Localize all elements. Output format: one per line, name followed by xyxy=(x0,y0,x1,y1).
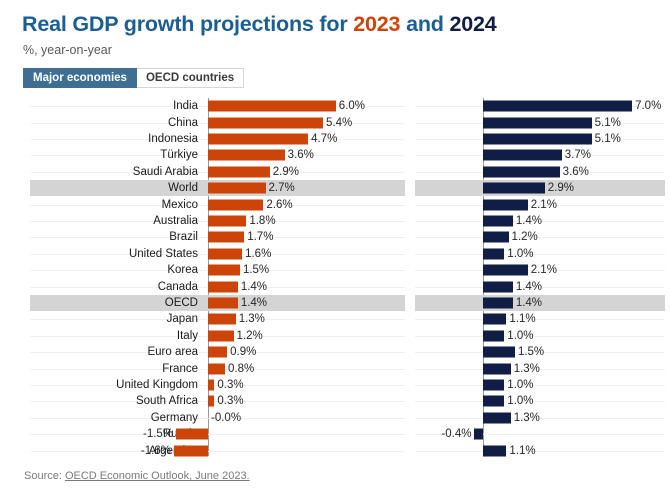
category-label: France xyxy=(30,363,198,375)
category-label: OECD xyxy=(30,297,198,309)
bar-value-label: 7.0% xyxy=(635,100,661,112)
bar-value-label: 1.4% xyxy=(241,281,267,293)
bar[interactable] xyxy=(483,117,592,128)
bar-value-label: 4.7% xyxy=(311,133,337,145)
bar[interactable] xyxy=(208,183,266,194)
bar[interactable] xyxy=(483,445,506,456)
gridline xyxy=(415,418,665,419)
bar-value-label: 5.1% xyxy=(595,133,621,145)
bar-value-label: 3.6% xyxy=(288,149,314,161)
bar-row: India6.0% xyxy=(30,98,405,114)
chart-canvas: India6.0%China5.4%Indonesia4.7%Türkiye3.… xyxy=(0,98,670,456)
bar[interactable] xyxy=(483,281,513,292)
category-label: China xyxy=(30,117,198,129)
bar-row: France0.8% xyxy=(30,360,405,376)
bar-row: 1.1% xyxy=(415,311,665,327)
bar-value-label: 1.3% xyxy=(514,412,540,424)
bar[interactable] xyxy=(483,248,504,259)
bar[interactable] xyxy=(483,101,632,112)
bar[interactable] xyxy=(208,117,323,128)
category-label: Italy xyxy=(30,330,198,342)
bar-row: OECD1.4% xyxy=(30,295,405,311)
bar-row: 2.1% xyxy=(415,262,665,278)
source-link[interactable]: OECD Economic Outlook, June 2023. xyxy=(65,470,250,482)
bar-rows-2024: 7.0%5.1%5.1%3.7%3.6%2.9%2.1%1.4%1.2%1.0%… xyxy=(415,98,665,456)
bar-value-label: 2.9% xyxy=(273,166,299,178)
category-label: United States xyxy=(30,248,198,260)
bar-value-label: 1.3% xyxy=(239,313,265,325)
source-prefix: Source: xyxy=(24,470,65,482)
bar-row: 3.7% xyxy=(415,147,665,163)
bar[interactable] xyxy=(483,232,509,243)
bar[interactable] xyxy=(208,265,240,276)
bar-row: 2.9% xyxy=(415,180,665,196)
bar-value-label: -0.0% xyxy=(211,412,241,424)
bar[interactable] xyxy=(208,396,214,407)
bar[interactable] xyxy=(483,199,528,210)
bar-value-label: 2.7% xyxy=(269,182,295,194)
bar[interactable] xyxy=(208,232,244,243)
bar-value-label: 1.4% xyxy=(516,297,542,309)
bar-row: 1.4% xyxy=(415,213,665,229)
bar-value-label: 1.0% xyxy=(507,330,533,342)
bar-row: United States1.6% xyxy=(30,246,405,262)
gridline xyxy=(415,237,665,238)
bar[interactable] xyxy=(483,265,528,276)
category-label: Australia xyxy=(30,215,198,227)
panel-2024: 7.0%5.1%5.1%3.7%3.6%2.9%2.1%1.4%1.2%1.0%… xyxy=(415,98,665,456)
bar-value-label: 1.4% xyxy=(516,215,542,227)
bar-row: Brazil1.7% xyxy=(30,229,405,245)
gridline xyxy=(415,385,665,386)
bar[interactable] xyxy=(483,183,545,194)
bar-row: Russia-1.5% xyxy=(30,426,405,442)
bar[interactable] xyxy=(208,347,227,358)
bar-row: Argentina-1.6% xyxy=(30,442,405,458)
gridline xyxy=(415,254,665,255)
bar-value-label: 5.4% xyxy=(326,117,352,129)
bar-value-label: -1.6% xyxy=(30,445,171,457)
bar-row: Japan1.3% xyxy=(30,311,405,327)
bar[interactable] xyxy=(208,101,336,112)
bar[interactable] xyxy=(483,150,562,161)
bar[interactable] xyxy=(208,363,225,374)
gridline xyxy=(415,451,665,452)
bar-row: Türkiye3.6% xyxy=(30,147,405,163)
panel-2023: India6.0%China5.4%Indonesia4.7%Türkiye3.… xyxy=(30,98,405,456)
bar-row: China5.4% xyxy=(30,114,405,130)
category-label: Indonesia xyxy=(30,133,198,145)
bar-row: South Africa0.3% xyxy=(30,393,405,409)
bar-value-label: 1.5% xyxy=(518,346,544,358)
bar[interactable] xyxy=(483,379,504,390)
title-year-2024: 2024 xyxy=(449,12,496,36)
bar-value-label: 1.8% xyxy=(249,215,275,227)
category-label: Germany xyxy=(30,412,198,424)
bar[interactable] xyxy=(483,396,504,407)
bar-row: 1.1% xyxy=(415,442,665,458)
bar-value-label: 0.8% xyxy=(228,363,254,375)
bar[interactable] xyxy=(208,150,285,161)
bar-value-label: -1.5% xyxy=(30,428,173,440)
bar[interactable] xyxy=(483,133,592,144)
bar-row: 1.4% xyxy=(415,295,665,311)
bar-row: 5.1% xyxy=(415,114,665,130)
bar[interactable] xyxy=(483,297,513,308)
bar-value-label: 2.1% xyxy=(531,264,557,276)
bar-value-label: -0.4% xyxy=(415,428,471,440)
bar-row: 1.0% xyxy=(415,393,665,409)
bar-row: Euro area0.9% xyxy=(30,344,405,360)
bar-row: Mexico2.6% xyxy=(30,196,405,212)
bar[interactable] xyxy=(208,199,263,210)
bar-row: Indonesia4.7% xyxy=(30,131,405,147)
tab-bar: Major economies OECD countries xyxy=(23,68,244,88)
gridline xyxy=(415,369,665,370)
bar-value-label: 1.4% xyxy=(241,297,267,309)
category-label: India xyxy=(30,100,198,112)
category-label: South Africa xyxy=(30,395,198,407)
bar[interactable] xyxy=(208,166,270,177)
bar-row: 1.2% xyxy=(415,229,665,245)
category-label: United Kingdom xyxy=(30,379,198,391)
chart-page: Real GDP growth projections for 2023 and… xyxy=(0,0,670,494)
bar-value-label: 1.2% xyxy=(512,231,538,243)
bar-row: 1.0% xyxy=(415,377,665,393)
category-label: Japan xyxy=(30,313,198,325)
category-label: Brazil xyxy=(30,231,198,243)
bar[interactable] xyxy=(208,297,238,308)
bar[interactable] xyxy=(208,330,234,341)
bar-row: 1.4% xyxy=(415,278,665,294)
bar-row: 1.0% xyxy=(415,328,665,344)
bar-row: Canada1.4% xyxy=(30,278,405,294)
bar[interactable] xyxy=(174,445,208,456)
bar-row: 5.1% xyxy=(415,131,665,147)
bar-value-label: 2.9% xyxy=(548,182,574,194)
bar-value-label: 1.4% xyxy=(516,281,542,293)
bar-value-label: 1.0% xyxy=(507,248,533,260)
bar-value-label: 1.6% xyxy=(245,248,271,260)
category-label: Canada xyxy=(30,281,198,293)
chart-subtitle: %, year-on-year xyxy=(23,43,112,57)
category-label: Euro area xyxy=(30,346,198,358)
bar-value-label: 2.1% xyxy=(531,199,557,211)
category-label: Mexico xyxy=(30,199,198,211)
bar-row: Korea1.5% xyxy=(30,262,405,278)
bar[interactable] xyxy=(483,330,504,341)
bar-value-label: 1.7% xyxy=(247,231,273,243)
bar-row: -0.4% xyxy=(415,426,665,442)
bar-row: Saudi Arabia2.9% xyxy=(30,164,405,180)
category-label: Korea xyxy=(30,264,198,276)
category-label: Saudi Arabia xyxy=(30,166,198,178)
bar-row: Italy1.2% xyxy=(30,328,405,344)
title-conjunction: and xyxy=(400,12,449,36)
bar-row: 1.5% xyxy=(415,344,665,360)
bar-row: 1.3% xyxy=(415,410,665,426)
bar-value-label: 0.3% xyxy=(217,379,243,391)
bar-value-label: 1.5% xyxy=(243,264,269,276)
bar-row: 7.0% xyxy=(415,98,665,114)
bar-value-label: 1.0% xyxy=(507,379,533,391)
bar-value-label: 1.1% xyxy=(509,313,535,325)
tab-major-economies[interactable]: Major economies xyxy=(23,68,137,88)
gridline xyxy=(415,401,665,402)
gridline xyxy=(415,319,665,320)
page-title: Real GDP growth projections for 2023 and… xyxy=(22,12,497,37)
bar-value-label: 1.1% xyxy=(509,445,535,457)
bar[interactable] xyxy=(474,429,483,440)
bar-value-label: 5.1% xyxy=(595,117,621,129)
bar[interactable] xyxy=(483,314,506,325)
bar-value-label: 1.2% xyxy=(237,330,263,342)
bar[interactable] xyxy=(208,314,236,325)
bar-value-label: 1.0% xyxy=(507,395,533,407)
bar-row: Germany-0.0% xyxy=(30,410,405,426)
bar-row: World2.7% xyxy=(30,180,405,196)
bar-rows-2023: India6.0%China5.4%Indonesia4.7%Türkiye3.… xyxy=(30,98,405,456)
bar-value-label: 1.3% xyxy=(514,363,540,375)
tab-oecd-countries[interactable]: OECD countries xyxy=(137,68,244,88)
source-note: Source: OECD Economic Outlook, June 2023… xyxy=(24,470,250,482)
bar-value-label: 0.3% xyxy=(217,395,243,407)
bar-value-label: 3.7% xyxy=(565,149,591,161)
bar[interactable] xyxy=(483,166,560,177)
bar-row: 2.1% xyxy=(415,196,665,212)
category-label: World xyxy=(30,182,198,194)
bar[interactable] xyxy=(176,429,208,440)
bar[interactable] xyxy=(208,215,246,226)
bar[interactable] xyxy=(483,347,515,358)
title-prefix: Real GDP growth projections for xyxy=(22,12,353,36)
bar[interactable] xyxy=(483,412,511,423)
bar[interactable] xyxy=(208,379,214,390)
bar-row: 1.3% xyxy=(415,360,665,376)
bar-row: United Kingdom0.3% xyxy=(30,377,405,393)
bar[interactable] xyxy=(483,215,513,226)
bar-row: 1.0% xyxy=(415,246,665,262)
bar-value-label: 3.6% xyxy=(563,166,589,178)
bar[interactable] xyxy=(208,248,242,259)
bar-value-label: 6.0% xyxy=(339,100,365,112)
bar[interactable] xyxy=(208,281,238,292)
bar[interactable] xyxy=(208,133,308,144)
category-label: Türkiye xyxy=(30,149,198,161)
bar-value-label: 2.6% xyxy=(266,199,292,211)
title-year-2023: 2023 xyxy=(353,12,400,36)
bar[interactable] xyxy=(483,363,511,374)
bar-row: 3.6% xyxy=(415,164,665,180)
bar-row: Australia1.8% xyxy=(30,213,405,229)
gridline xyxy=(415,336,665,337)
bar-value-label: 0.9% xyxy=(230,346,256,358)
